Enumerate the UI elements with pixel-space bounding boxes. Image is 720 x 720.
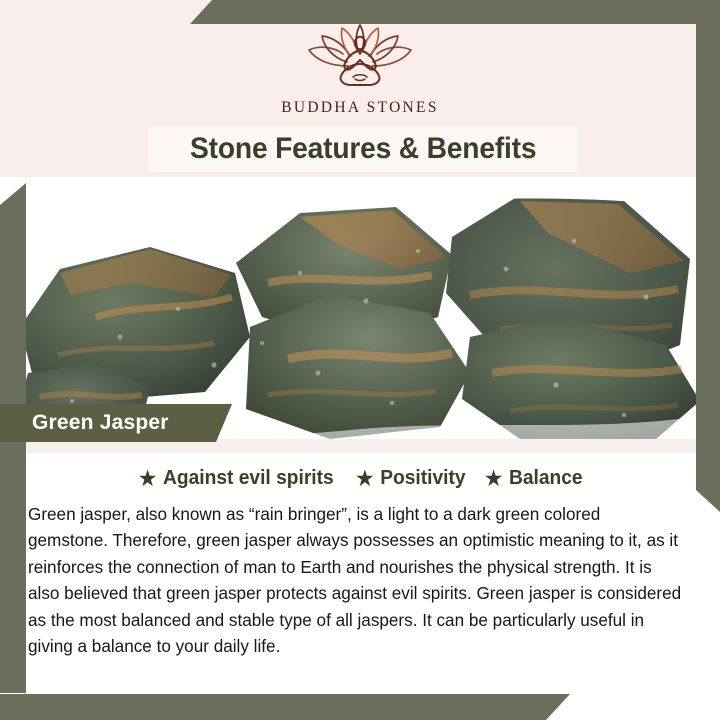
frame-accent-top bbox=[190, 0, 720, 24]
lotus-meditation-icon bbox=[290, 22, 430, 94]
stone-name-badge: Green Jasper bbox=[0, 404, 232, 442]
benefits-row: ★ Against evil spirits ★ Positivity ★ Ba… bbox=[0, 467, 720, 490]
frame-accent-bottom bbox=[0, 694, 570, 720]
stone-description: Green jasper, also known as “rain bringe… bbox=[28, 501, 684, 660]
benefit-item-against-evil-spirits: ★ Against evil spirits bbox=[139, 467, 334, 490]
page-title: Stone Features & Benefits bbox=[190, 132, 536, 166]
frame-accent-right bbox=[696, 0, 720, 512]
benefit-label: Balance bbox=[509, 467, 583, 490]
page-title-band: Stone Features & Benefits bbox=[148, 126, 578, 172]
benefit-label: Against evil spirits bbox=[163, 467, 334, 490]
brand-name: BUDDHA STONES bbox=[281, 99, 439, 117]
benefit-item-balance: ★ Balance bbox=[486, 467, 584, 490]
stone-photo bbox=[0, 177, 720, 439]
brand-logo: BUDDHA STONES bbox=[0, 22, 720, 117]
green-jasper-stones-illustration bbox=[0, 177, 720, 439]
star-icon: ★ bbox=[356, 469, 373, 489]
benefit-item-positivity: ★ Positivity bbox=[356, 467, 465, 490]
content-panel: ★ Against evil spirits ★ Positivity ★ Ba… bbox=[0, 439, 720, 720]
stone-name-label: Green Jasper bbox=[32, 411, 169, 435]
benefit-label: Positivity bbox=[380, 467, 465, 490]
star-icon: ★ bbox=[139, 469, 156, 489]
star-icon: ★ bbox=[486, 469, 503, 489]
